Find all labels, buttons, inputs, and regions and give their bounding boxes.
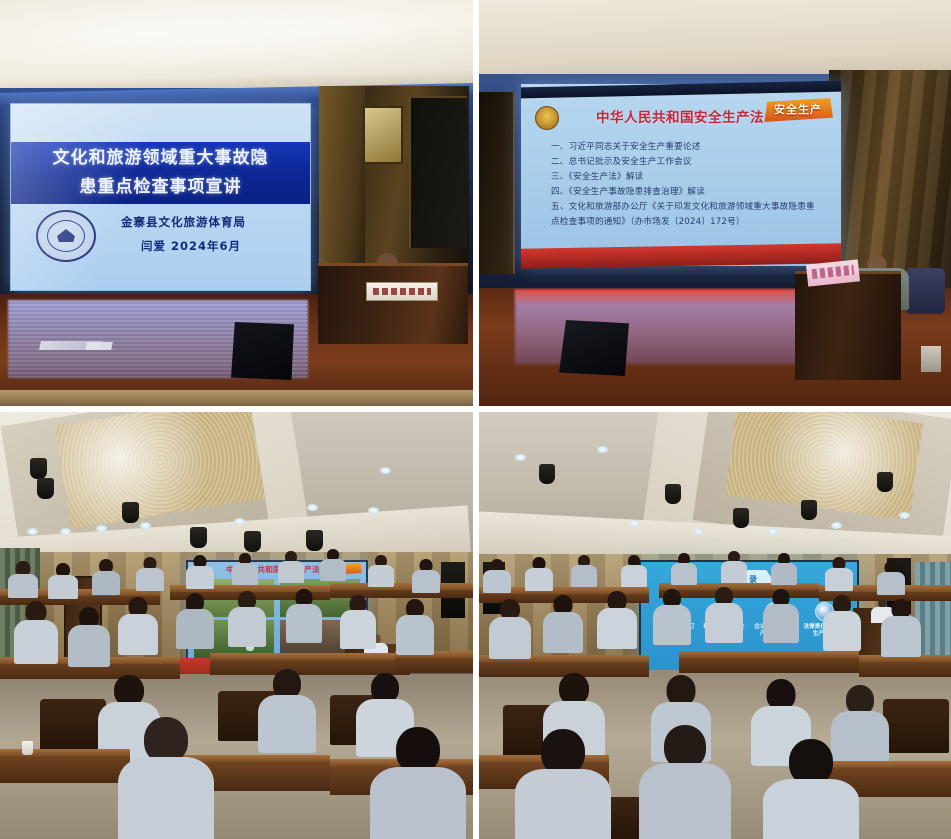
ceiling-spotlight-icon <box>380 467 391 474</box>
side-door-left <box>479 92 515 274</box>
attendee <box>877 561 905 595</box>
ceiling-spotlight-icon <box>767 528 778 535</box>
attendee <box>118 597 158 655</box>
desk-row <box>859 655 951 677</box>
ceiling-spotlight-icon <box>515 454 526 461</box>
side-door <box>409 96 467 248</box>
attendee <box>92 559 120 595</box>
ceiling-spotlight-icon <box>597 446 608 453</box>
attendee <box>232 553 258 585</box>
attendee <box>8 561 38 597</box>
outline-item-4: 四、《安全生产事故隐患排查治理》解读 <box>551 185 819 200</box>
attendee <box>763 589 799 643</box>
attendee <box>370 727 466 839</box>
ceiling-speaker-icon <box>877 472 893 492</box>
ceiling-light-glow <box>0 0 473 96</box>
slide-red-footer <box>521 243 841 269</box>
attendee <box>278 551 304 583</box>
outline-item-2: 二、总书记批示及安全生产工作会议 <box>551 155 819 170</box>
waste-bin <box>921 346 941 372</box>
attendee <box>396 599 434 655</box>
projection-screen-title-slide: 文化和旅游领域重大事故隐 患重点检查事项宣讲 金寨县文化旅游体育局 闫爱 202… <box>10 103 311 291</box>
safety-production-badge: 安全生产 <box>763 98 833 122</box>
ceiling-speaker-icon <box>733 508 749 528</box>
attendee <box>621 555 647 587</box>
ceiling-spotlight-icon <box>96 525 107 532</box>
papers-on-floor-2 <box>85 342 113 350</box>
screen-glare <box>11 104 310 290</box>
panel-bottom-right: 目录 安全生产法 修订背景 新安全生产法 主要内容 企业落实安全生 产主体责任 <box>476 409 951 839</box>
paper-cup <box>22 741 33 755</box>
attendee <box>721 551 747 583</box>
desk-row <box>0 749 130 783</box>
panel-bottom-left: 中华人民共和国安全生产法 <box>0 409 476 839</box>
red-reflection <box>515 290 841 306</box>
attendee <box>763 739 859 839</box>
national-emblem-icon <box>535 106 559 130</box>
chair-back <box>883 699 949 753</box>
ceiling-speaker-icon <box>190 527 207 548</box>
attendee <box>320 549 346 581</box>
attendee <box>68 607 110 667</box>
attendee <box>671 553 697 585</box>
document-on-podium <box>806 259 860 286</box>
ceiling-speaker-icon <box>306 530 323 551</box>
ceiling-spotlight-icon <box>307 504 318 511</box>
attendee <box>705 587 743 643</box>
attendee <box>118 717 214 839</box>
ceiling-spotlight-icon <box>234 518 245 525</box>
stage-monitor-speaker <box>231 322 294 380</box>
ceiling-speaker-icon <box>37 478 54 499</box>
attendee <box>412 559 440 593</box>
ceiling-speaker-icon <box>122 502 139 523</box>
outline-item-3: 三、《安全生产法》解读 <box>551 170 819 185</box>
stage-monitor-speaker <box>559 320 629 376</box>
attendee <box>340 595 376 649</box>
projection-screen-law-slide: 中华人民共和国安全生产法 安全生产 一、习近平同志关于安全生产重要论述 二、总书… <box>521 84 841 266</box>
photo-officer-law-slide: 中华人民共和国安全生产法 安全生产 一、习近平同志关于安全生产重要论述 二、总书… <box>479 0 951 406</box>
name-plate <box>366 282 438 301</box>
chair <box>905 268 945 314</box>
podium-desk <box>318 263 468 344</box>
ceiling-spotlight-icon <box>140 522 151 529</box>
photo-audience-wide-right: 目录 安全生产法 修订背景 新安全生产法 主要内容 企业落实安全生 产主体责任 <box>479 412 951 839</box>
law-slide-title: 中华人民共和国安全生产法 <box>565 106 795 126</box>
ceiling-speaker-icon <box>30 458 47 479</box>
photo-collage: 文化和旅游领域重大事故隐 患重点检查事项宣讲 金寨县文化旅游体育局 闫爱 202… <box>0 0 951 839</box>
stage-edge <box>0 390 473 406</box>
ceiling-spotlight-icon <box>693 528 704 535</box>
outline-item-5: 五、文化和旅游部办公厅《关于印发文化和旅游领域重大事故隐患重点检查事项的通知》（… <box>551 200 819 230</box>
attendee <box>881 599 921 657</box>
wall-window <box>363 106 403 164</box>
audience-area <box>479 549 951 839</box>
panel-top-left: 文化和旅游领域重大事故隐 患重点检查事项宣讲 金寨县文化旅游体育局 闫爱 202… <box>0 0 476 409</box>
ceiling-spotlight-icon <box>27 528 38 535</box>
audience-area <box>0 549 473 839</box>
attendee <box>525 557 553 591</box>
law-slide-outline: 一、习近平同志关于安全生产重要论述 二、总书记批示及安全生产工作会议 三、《安全… <box>551 140 819 230</box>
attendee <box>823 595 861 651</box>
attendee <box>176 593 214 649</box>
ceiling-spotlight-icon <box>629 520 640 527</box>
ceiling-speaker-icon <box>665 484 681 504</box>
chair-back <box>40 699 106 751</box>
ceiling-speaker-icon <box>801 500 817 520</box>
panel-top-right: 中华人民共和国安全生产法 安全生产 一、习近平同志关于安全生产重要论述 二、总书… <box>476 0 951 409</box>
photo-audience-wide-left: 中华人民共和国安全生产法 <box>0 412 473 839</box>
ceiling-spotlight-icon <box>899 512 910 519</box>
attendee <box>653 589 691 645</box>
attendee <box>186 555 214 589</box>
attendee <box>368 555 394 587</box>
desk-row <box>679 651 859 673</box>
attendee <box>543 595 583 653</box>
attendee <box>48 563 78 599</box>
ceiling-speaker-icon <box>539 464 555 484</box>
ceiling-spotlight-icon <box>60 528 71 535</box>
attendee <box>825 557 853 591</box>
ceiling-spotlight-icon <box>831 522 842 529</box>
attendee <box>597 591 637 649</box>
ceiling-spotlight-icon <box>368 507 379 514</box>
attendee <box>515 729 611 839</box>
attendee <box>258 669 316 753</box>
attendee <box>489 599 531 659</box>
attendee <box>483 559 511 593</box>
attendee <box>286 589 322 643</box>
attendee <box>771 553 797 585</box>
attendee <box>639 725 731 839</box>
podium-desk <box>795 271 901 380</box>
screen-top-shadow <box>521 81 841 99</box>
attendee <box>571 555 597 587</box>
outline-item-1: 一、习近平同志关于安全生产重要论述 <box>551 140 819 155</box>
attendee <box>228 591 266 647</box>
attendee <box>136 557 164 591</box>
photo-podium-speaker-title-slide: 文化和旅游领域重大事故隐 患重点检查事项宣讲 金寨县文化旅游体育局 闫爱 202… <box>0 0 473 406</box>
attendee <box>14 601 58 663</box>
